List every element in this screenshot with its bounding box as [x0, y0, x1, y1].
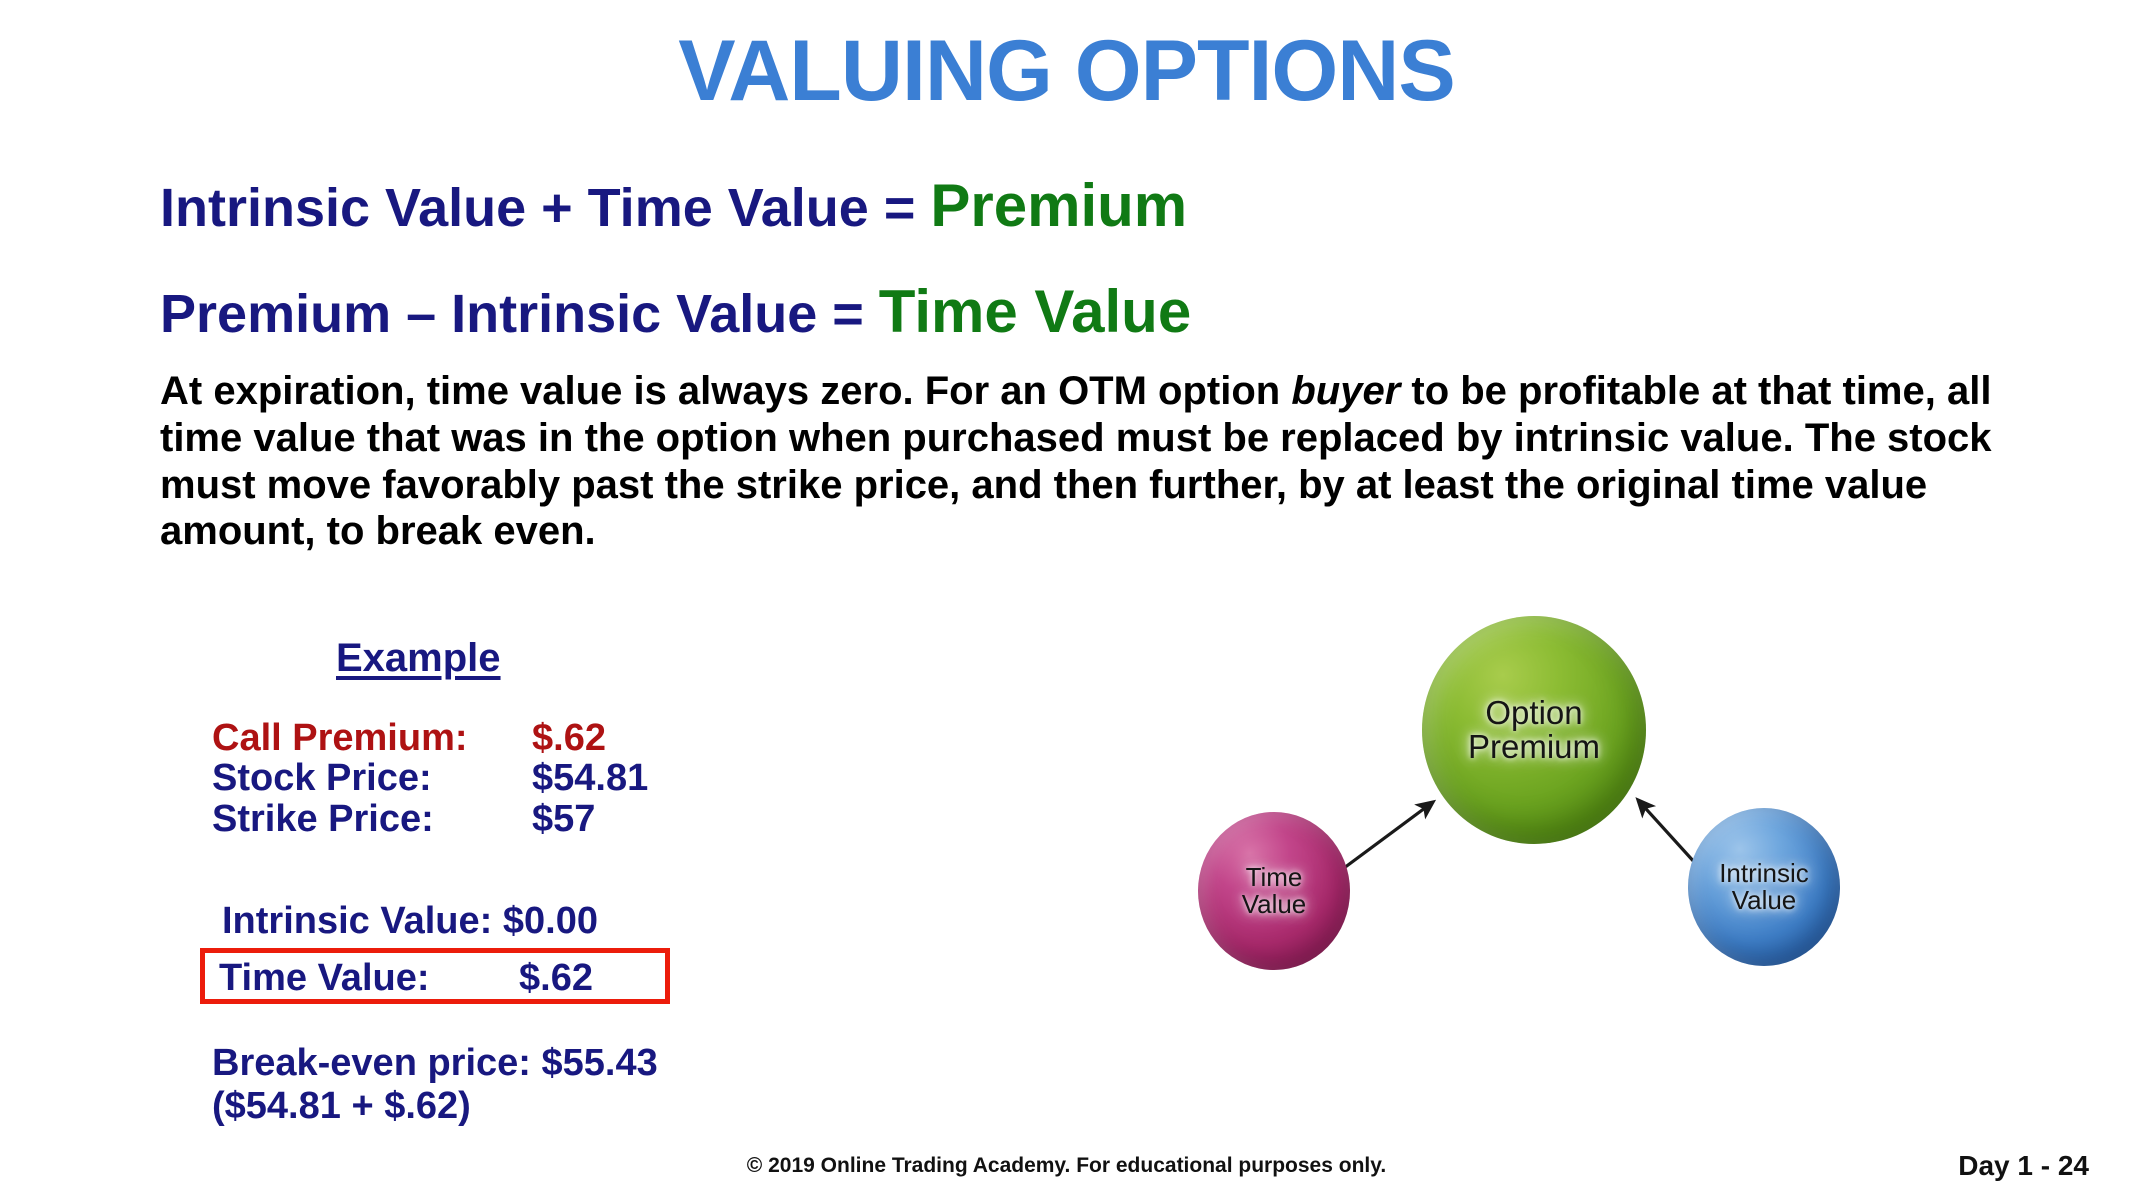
sphere-label-line-1: Option — [1468, 696, 1600, 730]
example-heading: Example — [336, 636, 501, 681]
price-label: Strike Price: — [212, 799, 532, 839]
time-value-label: Time Value: — [219, 957, 519, 1000]
sphere-time-value-label: Time Value — [1242, 864, 1307, 918]
formula-2-green-text: Time Value — [879, 278, 1191, 345]
formula-line-2: Premium – Intrinsic Value = Time Value — [160, 282, 1191, 342]
sphere-intrinsic-value: Intrinsic Value — [1688, 808, 1840, 966]
intrinsic-value-line: Intrinsic Value: $0.00 — [222, 900, 598, 943]
sphere-option-premium-label: Option Premium — [1468, 696, 1600, 765]
body-paragraph: At expiration, time value is always zero… — [160, 368, 2040, 555]
price-label: Stock Price: — [212, 758, 532, 798]
sphere-label-line-1: Intrinsic — [1719, 860, 1809, 887]
paragraph-italic-word: buyer — [1291, 369, 1400, 413]
formula-1-green-text: Premium — [930, 172, 1187, 239]
formula-1-navy-text: Intrinsic Value + Time Value = — [160, 178, 930, 238]
price-row-strike-price: Strike Price: $57 — [212, 799, 648, 839]
slide-canvas: VALUING OPTIONS Intrinsic Value + Time V… — [0, 0, 2133, 1200]
formula-line-1: Intrinsic Value + Time Value = Premium — [160, 176, 1187, 236]
sphere-label-line-2: Value — [1242, 891, 1307, 918]
example-price-list: Call Premium: $.62 Stock Price: $54.81 S… — [212, 718, 648, 839]
price-value: $54.81 — [532, 758, 648, 798]
price-label: Call Premium: — [212, 718, 532, 758]
price-value: $.62 — [532, 718, 606, 758]
time-value-row: Time Value: $.62 — [219, 957, 593, 1000]
sphere-label-line-2: Value — [1719, 887, 1809, 914]
break-even-line-2: ($54.81 + $.62) — [212, 1085, 658, 1128]
sphere-intrinsic-value-label: Intrinsic Value — [1719, 860, 1809, 914]
break-even-line-1: Break-even price: $55.43 — [212, 1042, 658, 1085]
price-row-call-premium: Call Premium: $.62 — [212, 718, 648, 758]
formula-2-navy-text: Premium – Intrinsic Value = — [160, 284, 879, 344]
price-value: $57 — [532, 799, 595, 839]
break-even-block: Break-even price: $55.43 ($54.81 + $.62) — [212, 1042, 658, 1127]
price-row-stock-price: Stock Price: $54.81 — [212, 758, 648, 798]
option-premium-diagram: Option Premium Time Value Intrinsic Valu… — [1190, 600, 1910, 1050]
sphere-time-value: Time Value — [1198, 812, 1350, 970]
footer-copyright: © 2019 Online Trading Academy. For educa… — [0, 1154, 2133, 1178]
paragraph-part-1: At expiration, time value is always zero… — [160, 369, 1291, 413]
page-title: VALUING OPTIONS — [0, 26, 2133, 116]
footer-page-number: Day 1 - 24 — [1958, 1150, 2089, 1182]
sphere-label-line-2: Premium — [1468, 730, 1600, 764]
sphere-option-premium: Option Premium — [1422, 616, 1646, 844]
time-value-amount: $.62 — [519, 957, 593, 1000]
time-value-highlight-box: Time Value: $.62 — [200, 948, 670, 1004]
sphere-label-line-1: Time — [1242, 864, 1307, 891]
